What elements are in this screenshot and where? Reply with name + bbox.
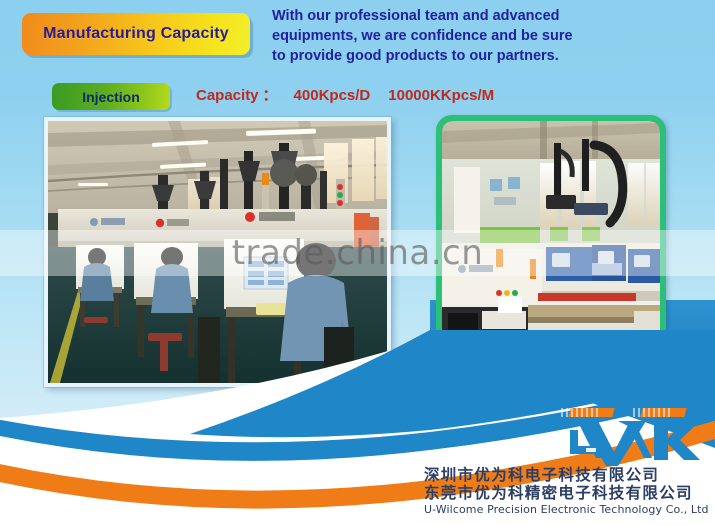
slide-canvas: Manufacturing Capacity With our professi… (0, 0, 715, 525)
photo-side-artwork (442, 121, 660, 344)
intro-paragraph: With our professional team and advanced … (272, 6, 708, 66)
manufacturing-capacity-badge: Manufacturing Capacity (22, 13, 250, 55)
capacity-value-daily: 400Kpcs/D (294, 87, 371, 104)
company-name-cn-1: 深圳市优为科电子科技有限公司 (424, 466, 712, 484)
intro-line-1: With our professional team and advanced (272, 6, 708, 26)
company-name-cn-2: 东莞市优为科精密电子科技有限公司 (424, 484, 712, 502)
intro-line-3: to provide good products to our partners… (272, 46, 708, 66)
intro-line-2: equipments, we are confidence and be sur… (272, 26, 708, 46)
capacity-colon: ： (263, 84, 278, 105)
photo-injection-machines-side (436, 115, 666, 350)
capacity-value-monthly: 10000KKpcs/M (388, 87, 494, 104)
photo-side-inner (442, 121, 660, 344)
company-name-en: U-Wilcome Precision Electronic Technolog… (424, 503, 712, 516)
company-identity: 深圳市优为科电子科技有限公司 东莞市优为科精密电子科技有限公司 U-Wilcom… (424, 466, 712, 516)
uwk-logo: UWK (556, 404, 704, 466)
manufacturing-capacity-label: Manufacturing Capacity (43, 25, 229, 43)
capacity-label: Capacity (196, 87, 259, 104)
capacity-line: Capacity ： 400Kpcs/D 10000KKpcs/M (196, 84, 494, 105)
injection-badge: Injection (52, 83, 170, 110)
injection-label: Injection (82, 89, 140, 105)
